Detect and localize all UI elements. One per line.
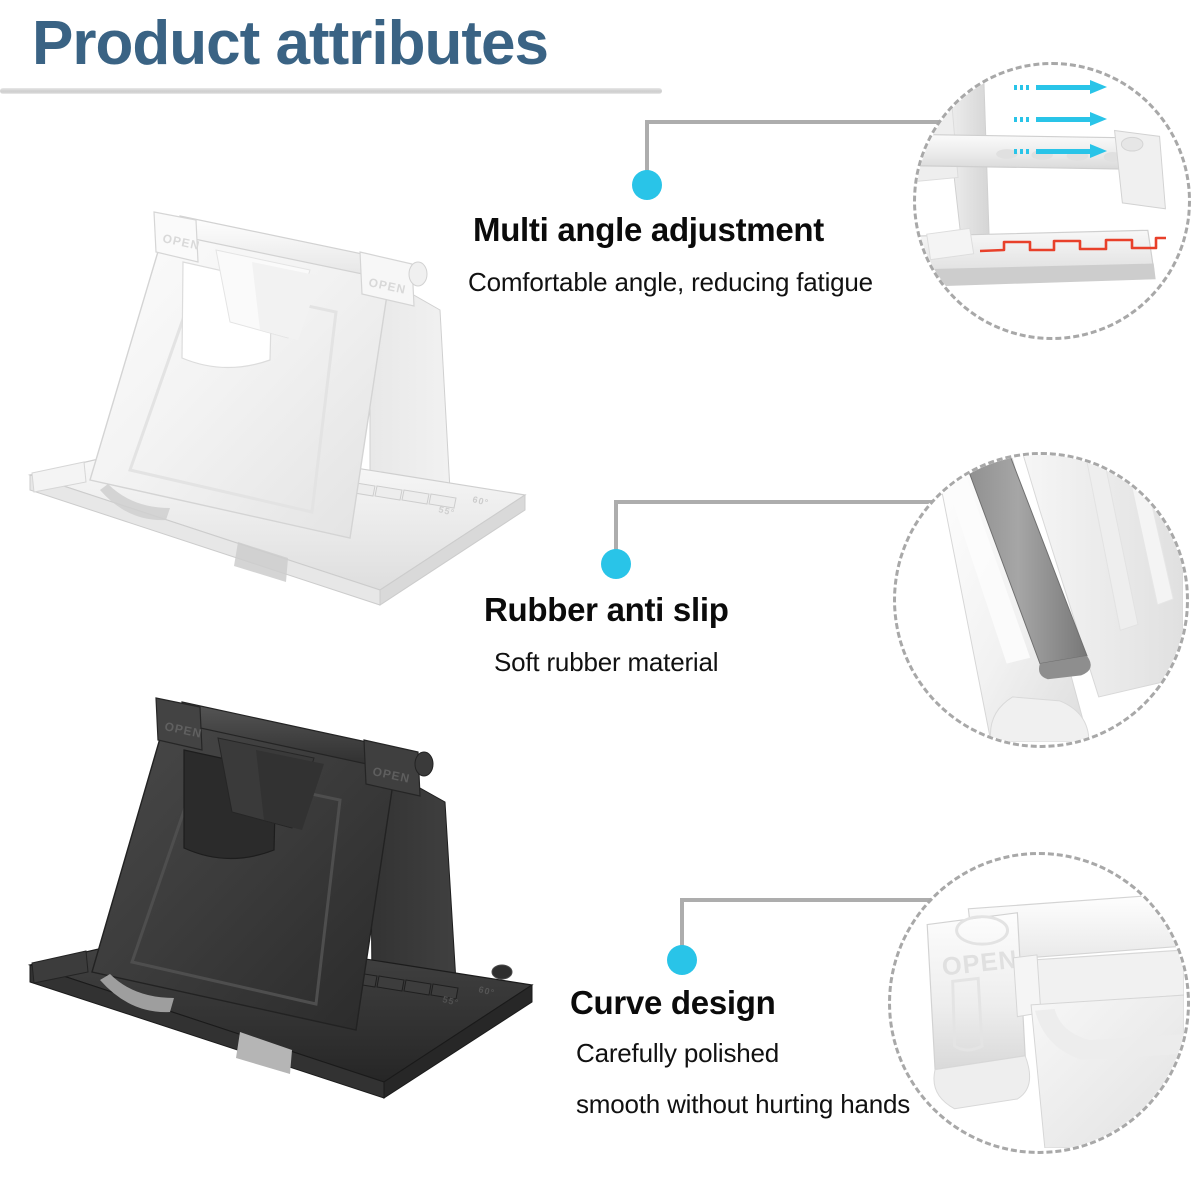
leader-line-vertical-3 [680, 898, 684, 952]
page-title: Product attributes [32, 8, 548, 79]
detail-circle-rubber-pad [893, 452, 1189, 748]
callout-title-2: Rubber anti slip [484, 592, 904, 629]
callout-rubber-anti-slip: Rubber anti slip Soft rubber material [484, 592, 904, 682]
notch-outline-highlight [978, 233, 1168, 261]
detail-photo-rubber-pad [893, 452, 1183, 742]
motion-arrow-icon-2 [1014, 115, 1124, 124]
callout-dot-3 [667, 945, 697, 975]
motion-arrow-icon-1 [1014, 83, 1124, 92]
detail-photo-curved-edge: OPEN [888, 852, 1184, 1148]
callout-dot-2 [601, 549, 631, 579]
motion-arrow-icon-3 [1014, 147, 1124, 156]
leader-line-vertical-2 [614, 500, 618, 556]
product-photo-black-stand: 60° 55° OPEN OPEN [20, 680, 550, 1120]
detail-circle-angle-notch [913, 62, 1191, 340]
product-photo-white-stand: 60° 55° OPEN OPEN [20, 190, 540, 630]
callout-subtitle-1-line-1: Comfortable angle, reducing fatigue [468, 263, 913, 302]
detail-circle-curved-edge: OPEN [888, 852, 1190, 1154]
callout-multi-angle-adjustment: Multi angle adjustment Comfortable angle… [473, 212, 913, 302]
callout-dot-1 [632, 170, 662, 200]
callout-title-1: Multi angle adjustment [473, 212, 913, 249]
motion-arrows-group [1014, 83, 1134, 173]
callout-subtitle-2-line-1: Soft rubber material [494, 643, 904, 682]
title-divider [0, 88, 662, 94]
infographic-canvas: Product attributes [0, 0, 1200, 1200]
